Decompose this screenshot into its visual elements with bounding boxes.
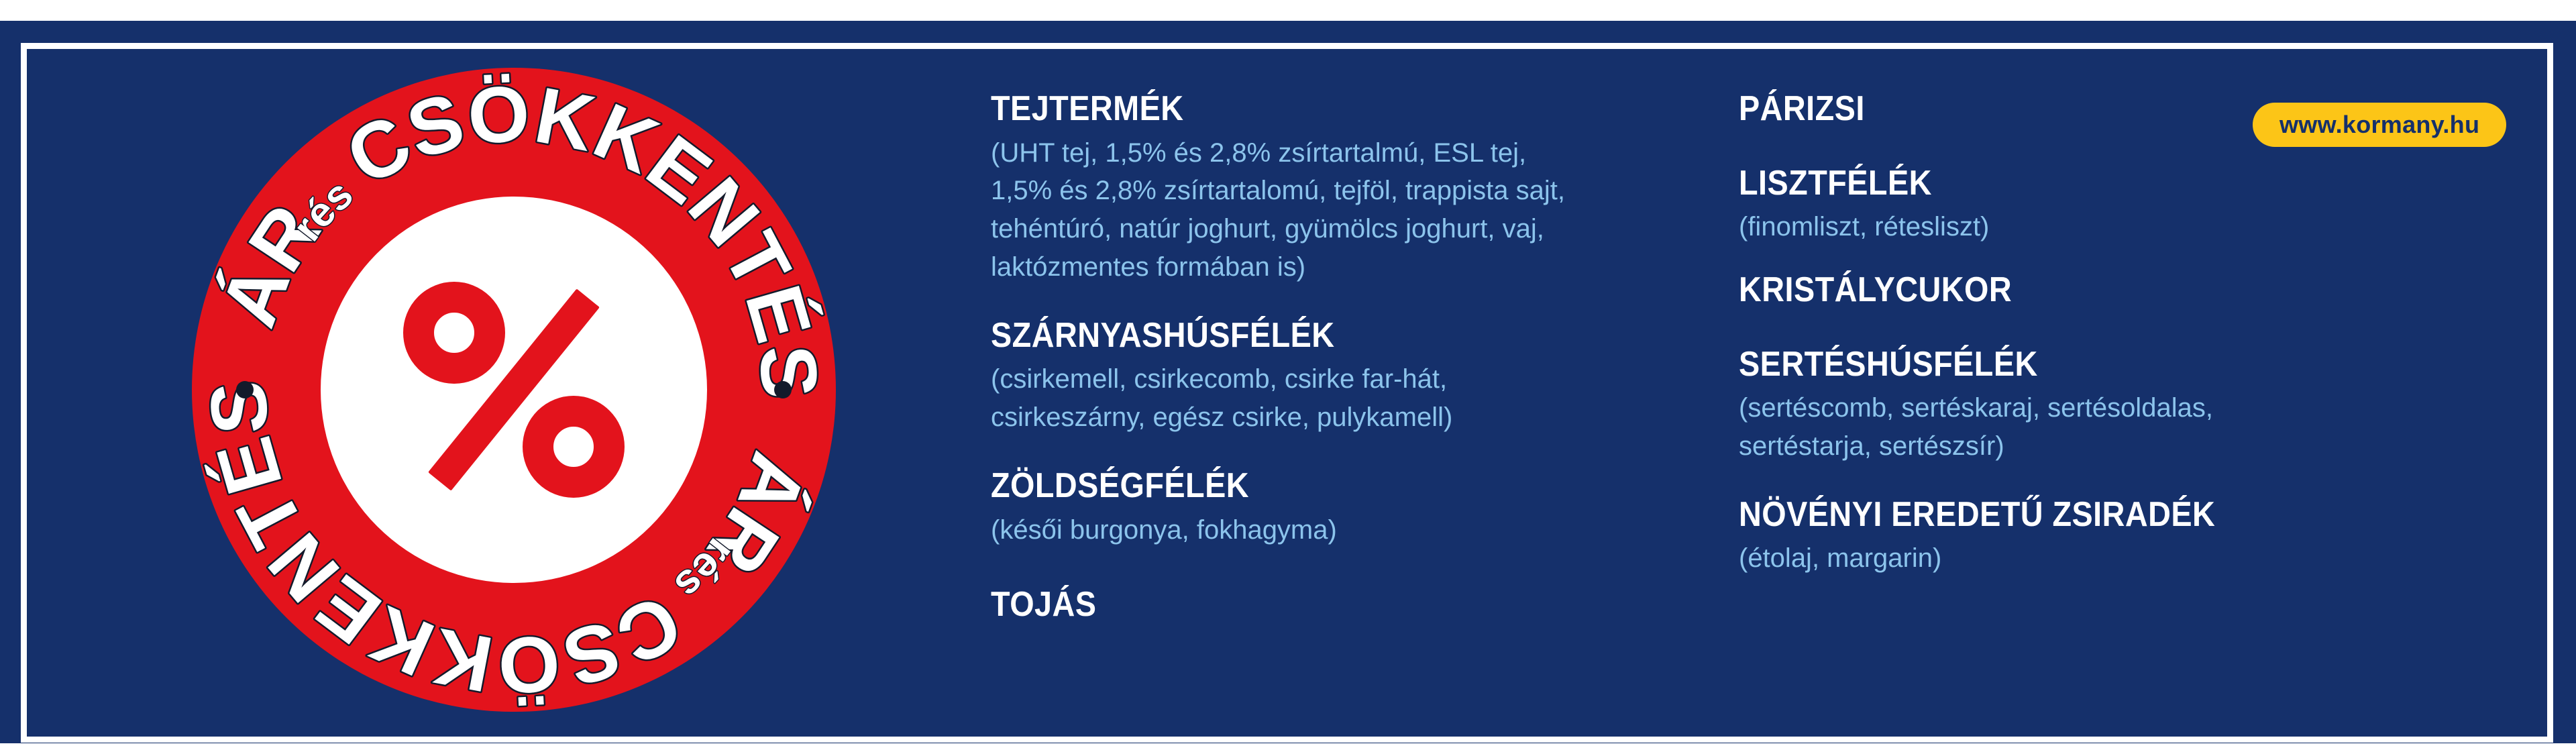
product-group-title: NÖVÉNYI EREDETŰ ZSIRADÉK bbox=[1739, 496, 2355, 533]
product-group-kristalycukor: KRISTÁLYCUKOR bbox=[1739, 272, 2423, 309]
product-group-subtitle: (késői burgonya, fokhagyma) bbox=[991, 511, 1595, 549]
spacer bbox=[1739, 309, 2423, 346]
spacer bbox=[991, 549, 1648, 586]
product-group-zoldsegfelek: ZÖLDSÉGFÉLÉK (késői burgonya, fokhagyma) bbox=[991, 468, 1648, 549]
website-url-badge[interactable]: www.kormany.hu bbox=[2253, 103, 2506, 147]
product-group-szarnyashusfelek: SZÁRNYASHÚSFÉLÉK (csirkemell, csirkecomb… bbox=[991, 317, 1648, 437]
product-group-tejtermek: TEJTERMÉK (UHT tej, 1,5% és 2,8% zsírtar… bbox=[991, 91, 1648, 286]
percent-icon-upper-ring bbox=[403, 282, 505, 384]
product-column-right: PÁRIZSI LISZTFÉLÉK (finomliszt, réteslis… bbox=[1739, 91, 2423, 578]
product-group-subtitle: (sertéscomb, sertéskaraj, sertésoldalas,… bbox=[1739, 389, 2343, 466]
percent-icon-lower-ring bbox=[523, 396, 625, 498]
product-group-title: ZÖLDSÉGFÉLÉK bbox=[991, 468, 1582, 504]
product-group-title: TEJTERMÉK bbox=[991, 91, 1582, 127]
product-group-subtitle: (csirkemell, csirkecomb, csirke far-hát,… bbox=[991, 360, 1595, 437]
seal-white-core bbox=[321, 197, 707, 583]
product-group-serteshusfelek: SERTÉSHÚSFÉLÉK (sertéscomb, sertéskaraj,… bbox=[1739, 346, 2423, 466]
spacer bbox=[1739, 246, 2423, 272]
product-group-title: TOJÁS bbox=[991, 586, 1582, 623]
seal-dot-right bbox=[774, 381, 792, 398]
product-group-tojas: TOJÁS bbox=[991, 586, 1648, 623]
product-group-title: LISZTFÉLÉK bbox=[1739, 165, 2355, 202]
product-group-title: SERTÉSHÚSFÉLÉK bbox=[1739, 346, 2355, 383]
price-reduction-seal: CSÖKKENTÉS ÁR rés CSÖKKENTÉS ÁR bbox=[192, 68, 836, 712]
spacer bbox=[1739, 466, 2423, 496]
product-group-subtitle: (UHT tej, 1,5% és 2,8% zsírtartalmú, ESL… bbox=[991, 134, 1595, 286]
product-column-left: TEJTERMÉK (UHT tej, 1,5% és 2,8% zsírtar… bbox=[991, 91, 1648, 623]
product-group-title: KRISTÁLYCUKOR bbox=[1739, 272, 2355, 309]
product-group-novenyi-eredetu-zsiradek: NÖVÉNYI EREDETŰ ZSIRADÉK (étolaj, margar… bbox=[1739, 496, 2423, 578]
product-group-subtitle: (étolaj, margarin) bbox=[1739, 539, 2343, 578]
price-reduction-banner: CSÖKKENTÉS ÁR rés CSÖKKENTÉS ÁR bbox=[0, 21, 2576, 743]
percent-icon bbox=[403, 279, 625, 500]
product-group-title: SZÁRNYASHÚSFÉLÉK bbox=[991, 317, 1582, 354]
spacer bbox=[991, 286, 1648, 317]
product-group-subtitle: (finomliszt, rétesliszt) bbox=[1739, 208, 2343, 246]
product-group-lisztfelek: LISZTFÉLÉK (finomliszt, rétesliszt) bbox=[1739, 165, 2423, 246]
spacer bbox=[991, 437, 1648, 468]
seal-dot-left bbox=[236, 381, 254, 398]
website-url-label: www.kormany.hu bbox=[2279, 111, 2479, 139]
